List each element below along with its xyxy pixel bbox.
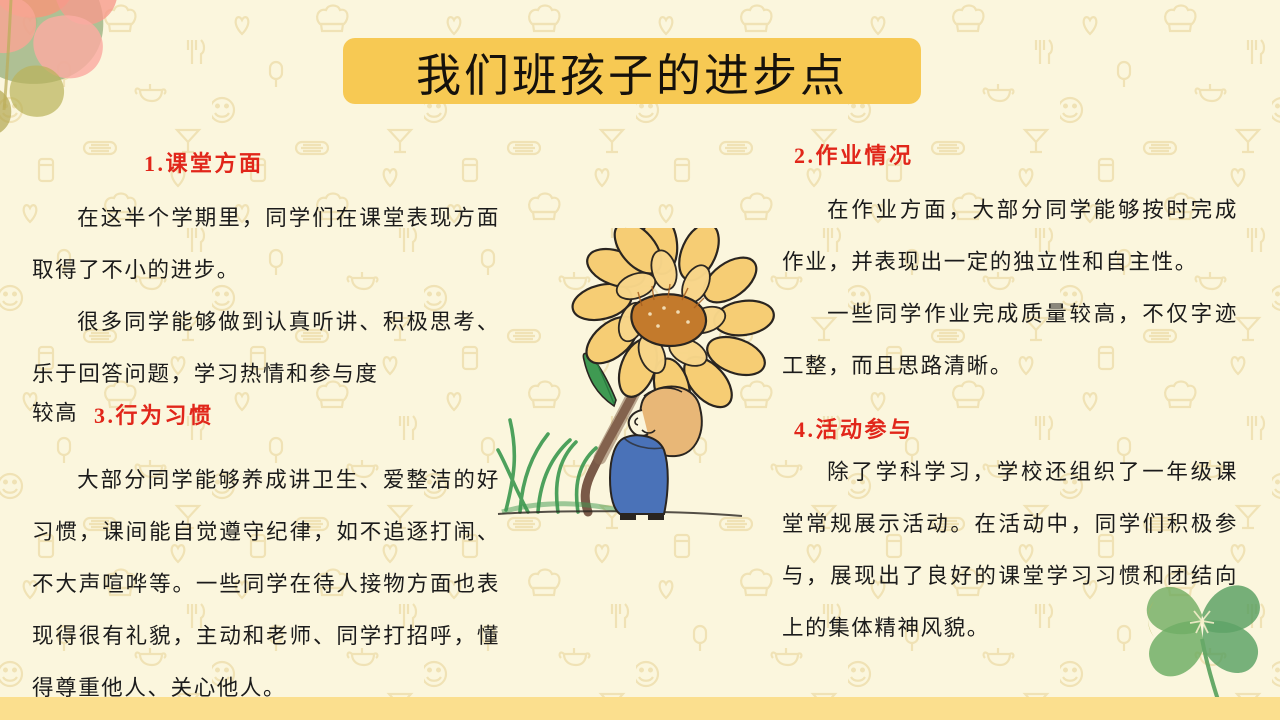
- heading-section-3: 3.行为习惯: [94, 398, 214, 430]
- right-column: 2.作业情况 在作业方面，大部分同学能够按时完成作业，并表现出一定的独立性和自主…: [782, 142, 1238, 654]
- section-1-paragraph-1: 在这半个学期里，同学们在课堂表现方面取得了不小的进步。: [32, 192, 500, 296]
- heading-section-2: 2.作业情况: [794, 142, 1238, 170]
- sunflower-child-illustration: [492, 228, 784, 528]
- flower-decoration-top-left: [0, 0, 168, 170]
- section-4-paragraph-1: 除了学科学习，学校还组织了一年级课堂常规展示活动。在活动中，同学们积极参与，展现…: [782, 446, 1238, 654]
- heading-section-1: 1.课堂方面: [144, 150, 500, 178]
- page-title: 我们班孩子的进步点: [343, 38, 921, 104]
- section-4-heading-row: 4.活动参与: [782, 392, 1238, 426]
- slide-canvas: 我们班孩子的进步点 1.课堂方面 在这半个学期里，同学们在课堂表现方面取得了不小…: [0, 0, 1280, 720]
- left-column: 1.课堂方面 在这半个学期里，同学们在课堂表现方面取得了不小的进步。 很多同学能…: [32, 150, 500, 714]
- section-2-paragraph-1: 在作业方面，大部分同学能够按时完成作业，并表现出一定的独立性和自主性。: [782, 184, 1238, 288]
- heading-section-4: 4.活动参与: [794, 412, 914, 444]
- section-3-paragraph-1: 大部分同学能够养成讲卫生、爱整洁的好习惯，课间能自觉遵守纪律，如不追逐打闹、不大…: [32, 454, 500, 714]
- section-1-3-overlap-row: 较高 3.行为习惯: [32, 400, 500, 434]
- bottom-accent-bar: [0, 697, 1280, 720]
- section-1-paragraph-2: 很多同学能够做到认真听讲、积极思考、乐于回答问题，学习热情和参与度: [32, 296, 500, 400]
- section-2-paragraph-2: 一些同学作业完成质量较高，不仅字迹工整，而且思路清晰。: [782, 288, 1238, 392]
- section-1-trailing-text: 较高: [32, 396, 78, 427]
